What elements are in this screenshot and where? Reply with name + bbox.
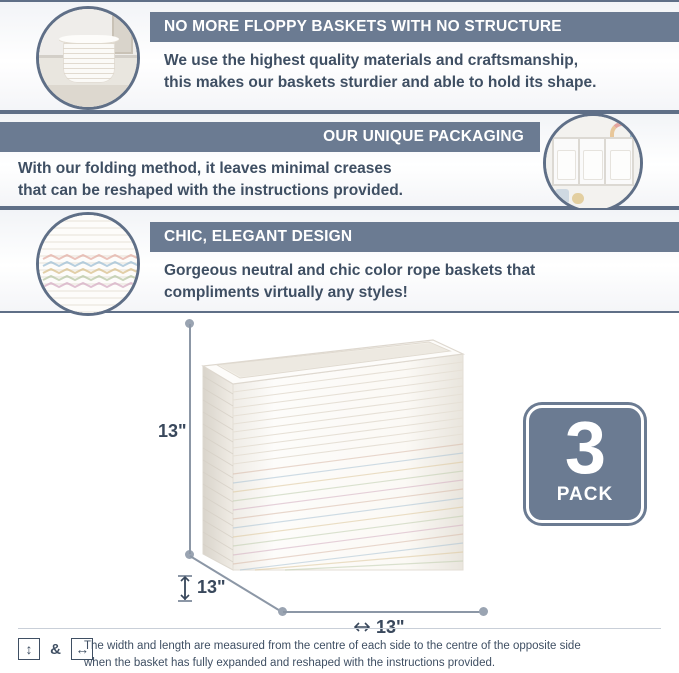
photo-floor xyxy=(39,85,137,107)
woven-rope-basket-illustration xyxy=(195,318,515,578)
dim-line-height xyxy=(189,324,191,554)
feature-design-body-line1: Gorgeous neutral and chic color rope bas… xyxy=(164,260,664,282)
photo-inner xyxy=(546,116,640,210)
photo-toy-ball xyxy=(572,193,583,204)
three-pack-badge: 3 PACK xyxy=(526,405,644,523)
photo-inner xyxy=(39,215,137,313)
feature-structure-body-line2: this makes our baskets sturdier and able… xyxy=(164,72,664,94)
feature-structure-title-bar: NO MORE FLOPPY BASKETS WITH NO STRUCTURE xyxy=(150,12,679,42)
feature-packaging-body: With our folding method, it leaves minim… xyxy=(18,158,534,202)
dimension-diagram: 13" 13" 13" 3 PACK xyxy=(0,313,679,628)
height-measure-icon xyxy=(18,638,40,660)
width-arrow-icon xyxy=(352,619,372,635)
feature-design: CHIC, ELEGANT DESIGN Gorgeous neutral an… xyxy=(0,208,679,313)
photo-basket-rim xyxy=(59,35,120,43)
dim-line-width xyxy=(283,611,483,613)
feature-structure-title: NO MORE FLOPPY BASKETS WITH NO STRUCTURE xyxy=(164,18,562,35)
white-rope-basket-photo xyxy=(36,6,140,110)
photo-inner xyxy=(39,9,137,107)
dim-dot-width-right xyxy=(479,607,488,616)
feature-structure: NO MORE FLOPPY BASKETS WITH NO STRUCTURE… xyxy=(0,0,679,112)
footer-ampersand: & xyxy=(50,641,61,658)
footer-note-line2: when the basket has fully expanded and r… xyxy=(84,655,664,672)
footer-note: The width and length are measured from t… xyxy=(84,638,664,673)
feature-design-title: CHIC, ELEGANT DESIGN xyxy=(164,228,352,245)
footer-measure-icons: & xyxy=(18,638,93,660)
feature-packaging-body-line2: that can be reshaped with the instructio… xyxy=(18,180,534,202)
photo-toy-box xyxy=(555,189,568,204)
rope-texture-photo xyxy=(36,212,140,316)
photo-basket xyxy=(63,38,116,83)
feature-structure-body: We use the highest quality materials and… xyxy=(164,50,664,94)
footer-note-line1: The width and length are measured from t… xyxy=(84,638,664,655)
photo-shelf-cubes xyxy=(552,137,635,186)
shelf-cubes-photo xyxy=(543,113,643,213)
feature-design-body: Gorgeous neutral and chic color rope bas… xyxy=(164,260,664,304)
feature-packaging-body-line1: With our folding method, it leaves minim… xyxy=(18,158,534,180)
badge-label: PACK xyxy=(529,484,641,506)
feature-design-title-bar: CHIC, ELEGANT DESIGN xyxy=(150,222,679,252)
badge-count: 3 xyxy=(529,408,641,488)
dim-label-height: 13" xyxy=(158,421,187,442)
footer-divider xyxy=(18,628,661,629)
feature-packaging-title-bar: OUR UNIQUE PACKAGING xyxy=(0,122,540,152)
photo-colored-zigzag xyxy=(39,215,140,316)
feature-packaging-title: OUR UNIQUE PACKAGING xyxy=(323,128,524,145)
feature-design-body-line2: compliments virtually any styles! xyxy=(164,282,664,304)
feature-structure-body-line1: We use the highest quality materials and… xyxy=(164,50,664,72)
feature-packaging: OUR UNIQUE PACKAGING With our folding me… xyxy=(0,112,679,208)
